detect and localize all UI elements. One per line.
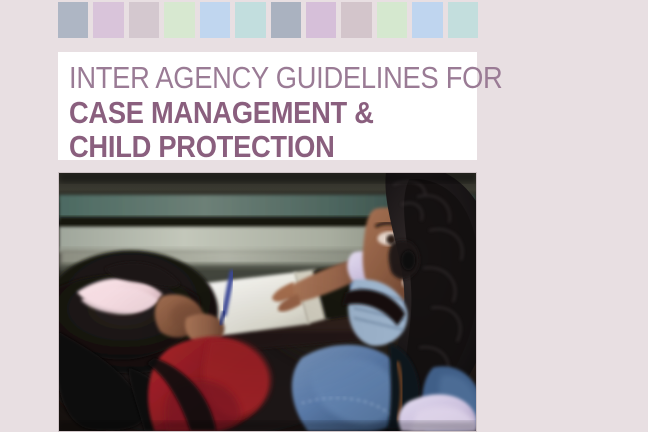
color-swatch-8 [306,2,336,38]
title-line-main-2: CHILD PROTECTION [69,131,428,162]
color-swatch-12 [448,2,478,38]
color-swatch-3 [129,2,159,38]
color-swatch-1 [58,2,88,38]
color-swatch-2 [93,2,123,38]
cover-photograph [58,172,477,432]
color-swatch-10 [377,2,407,38]
color-swatch-9 [341,2,371,38]
title-line-subtitle: INTER AGENCY GUIDELINES FOR [69,62,428,93]
color-swatch-11 [412,2,442,38]
color-swatch-5 [200,2,230,38]
color-swatch-4 [164,2,194,38]
cover-photograph-image [59,173,476,431]
color-swatch-6 [235,2,265,38]
cover-page: INTER AGENCY GUIDELINES FOR CASE MANAGEM… [0,0,648,432]
color-swatch-7 [271,2,301,38]
title-line-main-1: CASE MANAGEMENT & [69,97,428,128]
color-swatch-strip [58,2,478,38]
title-card: INTER AGENCY GUIDELINES FOR CASE MANAGEM… [58,52,477,160]
